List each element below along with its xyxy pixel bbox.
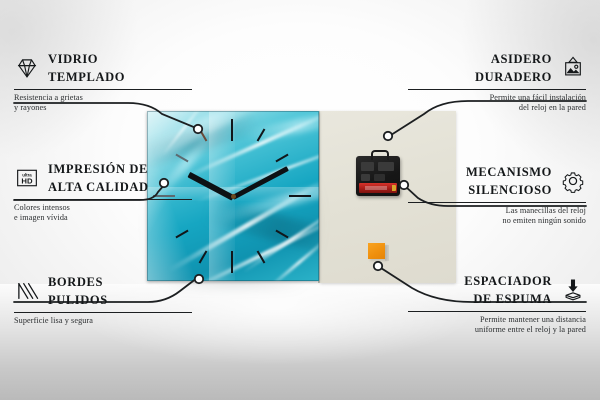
callout-title-line2: DURADERO [475, 70, 552, 84]
callout-title-line1: VIDRIO [48, 52, 98, 66]
callout-title-line1: BORDES [48, 275, 103, 289]
callout-subtitle-line1: Permite una fácil instalación [408, 93, 586, 103]
callout-title-line2: ALTA CALIDAD [48, 180, 149, 194]
hotspot-bordes[interactable] [193, 273, 205, 285]
callout-subtitle-line1: Superficie lisa y segura [14, 316, 192, 326]
callout-subtitle-line2: no emiten ningún sonido [408, 216, 586, 226]
svg-text:HD: HD [21, 177, 33, 186]
ultra-hd-icon: ultra HD [14, 165, 40, 191]
callout-title-line1: ASIDERO [491, 52, 552, 66]
callout-mecanismo-silencioso[interactable]: MECANISMO SILENCIOSO Las manecillas del … [408, 163, 586, 226]
product-infographic: VIDRIO TEMPLADO Resistencia a grietas y … [0, 0, 600, 400]
callout-title-line2: TEMPLADO [48, 70, 125, 84]
callout-rule [408, 89, 586, 90]
callout-asidero-duradero[interactable]: ASIDERO DURADERO Permite una fácil insta… [408, 50, 586, 113]
callout-subtitle-line1: Las manecillas del reloj [408, 206, 586, 216]
callout-subtitle-line1: Permite mantener una distancia [408, 315, 586, 325]
callout-subtitle-line1: Colores intensos [14, 203, 192, 213]
callout-title-line1: ESPACIADOR [464, 274, 552, 288]
callout-bordes-pulidos[interactable]: BORDES PULIDOS Superficie lisa y segura [14, 273, 192, 326]
hotspot-vidrio-templado[interactable] [192, 123, 204, 135]
callout-impresion-alta-calidad[interactable]: ultra HD IMPRESIÓN DE ALTA CALIDAD Color… [14, 160, 192, 223]
callout-espaciador-de-espuma[interactable]: ESPACIADOR DE ESPUMA Permite mantener un… [408, 272, 586, 335]
callout-subtitle-line1: Resistencia a grietas [14, 93, 192, 103]
diamond-icon [14, 55, 40, 81]
callout-title-line1: IMPRESIÓN DE [48, 162, 148, 176]
callout-vidrio-templado[interactable]: VIDRIO TEMPLADO Resistencia a grietas y … [14, 50, 192, 113]
callout-subtitle-line2: uniforme entre el reloj y la pared [408, 325, 586, 335]
callout-rule [408, 311, 586, 312]
callout-title-line2: SILENCIOSO [468, 183, 552, 197]
hotspot-espaciador[interactable] [372, 260, 384, 272]
callout-title-line2: PULIDOS [48, 293, 108, 307]
callout-subtitle-line2: e imagen vívida [14, 213, 192, 223]
foam-spacer-icon [560, 277, 586, 303]
callout-rule [14, 312, 192, 313]
callout-title-line2: DE ESPUMA [473, 292, 552, 306]
callout-rule [408, 202, 586, 203]
callout-subtitle-line2: y rayones [14, 103, 192, 113]
callout-rule [14, 199, 192, 200]
polished-edges-icon [14, 278, 40, 304]
hanging-frame-icon [560, 55, 586, 81]
gear-icon [560, 168, 586, 194]
callout-subtitle-line2: del reloj en la pared [408, 103, 586, 113]
hotspot-asidero[interactable] [382, 130, 394, 142]
callout-title-line1: MECANISMO [466, 165, 552, 179]
callout-rule [14, 89, 192, 90]
